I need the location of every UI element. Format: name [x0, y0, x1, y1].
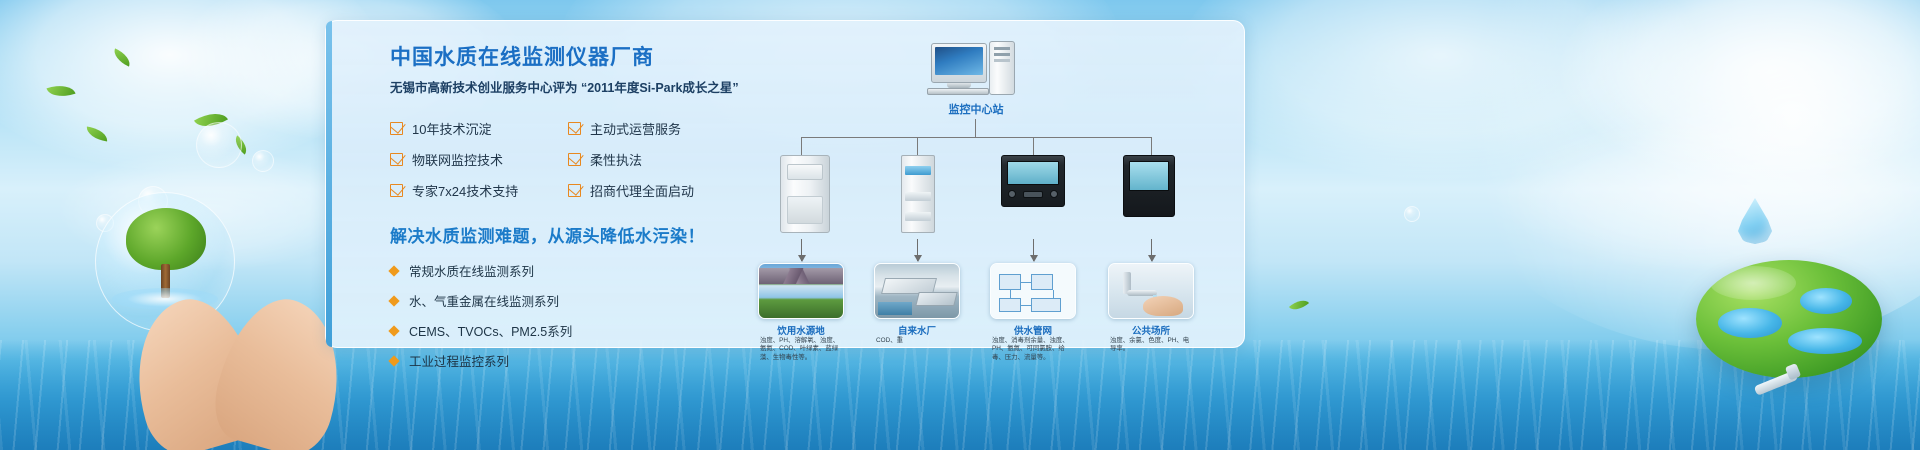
application-description: COD、重 [876, 337, 958, 345]
diagram-box [999, 274, 1021, 290]
text-column: 中国水质在线监测仪器厂商 无锡市高新技术创业服务中心评为 “2011年度Si-P… [390, 43, 750, 381]
arrow-down-icon [917, 239, 918, 261]
checkbox-checked-icon [568, 122, 581, 135]
product-line-label: 常规水质在线监测系列 [409, 261, 534, 280]
analyzer-body [1123, 155, 1175, 217]
analyzer-body [1001, 155, 1065, 207]
leaf-icon [46, 80, 75, 101]
feature-item: 柔性执法 [568, 150, 746, 169]
tap-water-photo [1109, 264, 1193, 318]
feature-label: 招商代理全面启动 [590, 181, 694, 200]
feature-item: 物联网监控技术 [390, 150, 568, 169]
leaf-icon [1289, 295, 1309, 314]
page-subtitle: 无锡市高新技术创业服务中心评为 “2011年度Si-Park成长之星” [390, 79, 750, 97]
analyzer-buttons [1008, 187, 1058, 201]
rack-body [901, 155, 935, 233]
center-station-label: 监控中心站 [906, 101, 1046, 117]
diagram-box [1031, 274, 1053, 290]
cloud [1500, 120, 1920, 270]
globe-highlight [1710, 266, 1796, 300]
feature-item: 主动式运营服务 [568, 119, 746, 138]
hands [75, 180, 295, 450]
globe-lake [1800, 288, 1852, 314]
diamond-bullet-icon [388, 325, 399, 336]
cabinet-body [780, 155, 830, 233]
connector-line [975, 119, 976, 137]
rack-panel [905, 212, 931, 221]
connector-line [1033, 137, 1034, 155]
product-line-list: 常规水质在线监测系列 水、气重金属在线监测系列 CEMS、TVOCs、PM2.5… [390, 261, 750, 370]
leaf-icon [111, 48, 134, 66]
cloud [1560, 0, 1920, 180]
rack-panel [905, 192, 931, 201]
desktop-computer-icon [931, 43, 1017, 95]
pc-tower [989, 41, 1015, 95]
plant-roof [915, 292, 957, 306]
application-photo [758, 263, 844, 319]
application-photo [1108, 263, 1194, 319]
device-analyzer [992, 155, 1074, 207]
river-photo [759, 264, 843, 318]
bubble [196, 122, 242, 168]
list-item: 水、气重金属在线监测系列 [390, 291, 750, 310]
application-caption: 公共场所 [1108, 323, 1194, 337]
pipe-network-diagram [991, 264, 1075, 318]
water-plant-photo [875, 264, 959, 318]
bubble [252, 150, 274, 172]
feature-label: 10年技术沉淀 [412, 119, 491, 138]
bubble [1404, 206, 1420, 222]
monitor [931, 43, 987, 83]
feature-list: 10年技术沉淀 主动式运营服务 物联网监控技术 柔性执法 专家7x24技术支持 … [390, 119, 750, 200]
feature-label: 物联网监控技术 [412, 150, 503, 169]
feature-item: 10年技术沉淀 [390, 119, 568, 138]
product-line-label: 水、气重金属在线监测系列 [409, 291, 559, 310]
feature-item: 专家7x24技术支持 [390, 181, 568, 200]
diagram-line [1021, 282, 1031, 283]
leaf-icon [194, 106, 228, 135]
section-title: 解决水质监测难题，从源头降低水污染！ [390, 222, 750, 247]
analyzer-buttons [1130, 196, 1168, 210]
connector-line [1151, 137, 1152, 155]
diamond-bullet-icon [388, 295, 399, 306]
connector-bus [801, 137, 1151, 138]
list-item: 工业过程监控系列 [390, 351, 750, 370]
analyzer-button [1050, 190, 1058, 198]
application-photo [874, 263, 960, 319]
application-description: 浊度、PH、溶解氧、浊度、氨氮、COD、叶绿素、蓝绿藻、生物毒性等。 [760, 337, 842, 362]
device-rack [878, 155, 958, 233]
diamond-bullet-icon [388, 355, 399, 366]
checkbox-checked-icon [568, 184, 581, 197]
arrow-down-icon [801, 239, 802, 261]
globe-lake [1718, 308, 1782, 338]
page-title: 中国水质在线监测仪器厂商 [390, 43, 750, 73]
application-photo [990, 263, 1076, 319]
leaf-icon [85, 127, 108, 142]
arrow-down-icon [1151, 239, 1152, 261]
application-caption: 自来水厂 [874, 323, 960, 337]
keyboard [927, 88, 989, 95]
diagram-box [1031, 298, 1061, 312]
analyzer-button [1023, 191, 1043, 198]
device-cabinet [762, 155, 848, 233]
content-panel: 中国水质在线监测仪器厂商 无锡市高新技术创业服务中心评为 “2011年度Si-P… [325, 20, 1245, 348]
globe-lake [1788, 328, 1862, 354]
application-description: 浊度、消毒剂余量、浊度、PH、氨氮、可同氯胺、给毒、压力、流量等。 [992, 337, 1074, 362]
checkbox-checked-icon [390, 184, 403, 197]
checkbox-checked-icon [390, 153, 403, 166]
device-analyzer-small [1108, 155, 1190, 217]
application-caption: 供水管网 [990, 323, 1076, 337]
cloud [1180, 0, 1700, 180]
feature-item: 招商代理全面启动 [568, 181, 746, 200]
system-diagram: 监控中心站 [756, 35, 1226, 345]
rack-panel [905, 166, 931, 175]
product-line-label: CEMS、TVOCs、PM2.5系列 [409, 321, 572, 340]
analyzer-button [1008, 190, 1016, 198]
cloud [0, 0, 380, 170]
diagram-line [1010, 290, 1011, 298]
feature-label: 专家7x24技术支持 [412, 181, 518, 200]
leaf-icon [231, 135, 251, 154]
analyzer-display [1007, 161, 1059, 185]
globe [1696, 260, 1882, 378]
diagram-box [999, 298, 1021, 312]
product-line-label: 工业过程监控系列 [409, 351, 509, 370]
monitor-screen [935, 47, 983, 75]
feature-label: 柔性执法 [590, 150, 642, 169]
mountain-range [759, 268, 843, 284]
list-item: CEMS、TVOCs、PM2.5系列 [390, 321, 750, 340]
diagram-line [1053, 290, 1054, 298]
connector-line [801, 137, 802, 155]
feature-label: 主动式运营服务 [590, 119, 681, 138]
application-description: 浊度、余氯、色度、PH、电导率。 [1110, 337, 1192, 354]
analyzer-display [1129, 161, 1169, 191]
checkbox-checked-icon [568, 153, 581, 166]
plant-pond [878, 302, 912, 315]
checkbox-checked-icon [390, 122, 403, 135]
hand [1143, 296, 1183, 316]
list-item: 常规水质在线监测系列 [390, 261, 750, 280]
application-caption: 饮用水源地 [758, 323, 844, 337]
connector-line [917, 137, 918, 155]
diamond-bullet-icon [388, 265, 399, 276]
diagram-line [1021, 305, 1031, 306]
arrow-down-icon [1033, 239, 1034, 261]
water-droplet-icon [1738, 198, 1772, 244]
